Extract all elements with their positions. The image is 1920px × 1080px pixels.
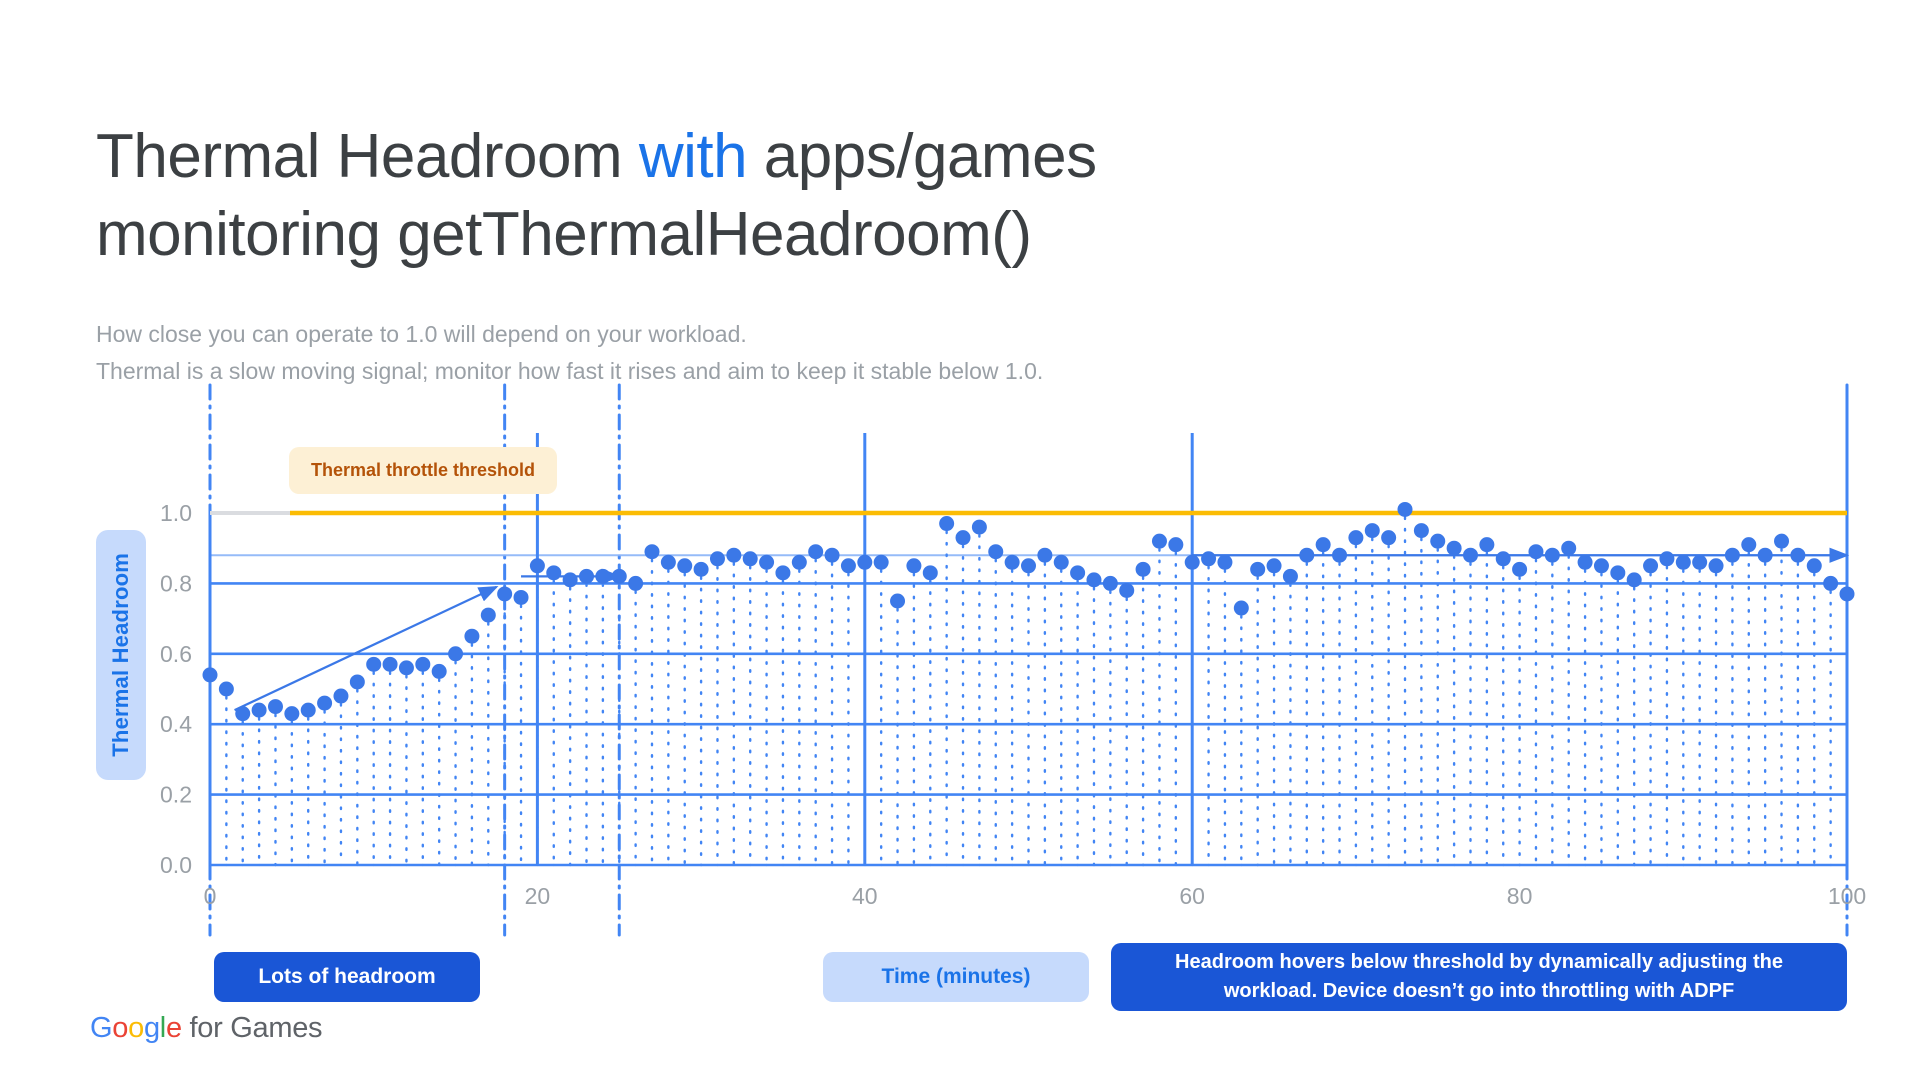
trend-arrows bbox=[235, 555, 1847, 710]
logo-letter-e1: e bbox=[166, 1012, 182, 1044]
data-point bbox=[612, 569, 627, 584]
subtitle-line-1: How close you can operate to 1.0 will de… bbox=[96, 316, 1043, 353]
data-point bbox=[1561, 541, 1576, 556]
data-point bbox=[366, 657, 381, 672]
data-point bbox=[1037, 548, 1052, 563]
y-tick-label: 0.0 bbox=[160, 852, 192, 878]
data-point bbox=[988, 544, 1003, 559]
data-point bbox=[1136, 562, 1151, 577]
data-point bbox=[432, 664, 447, 679]
data-point bbox=[1398, 502, 1413, 517]
title-accent-with: with bbox=[639, 122, 747, 191]
y-tick-label: 0.6 bbox=[160, 641, 192, 667]
data-point bbox=[906, 558, 921, 573]
data-point bbox=[857, 555, 872, 570]
data-point bbox=[1692, 555, 1707, 570]
data-point bbox=[841, 558, 856, 573]
data-point bbox=[890, 594, 905, 609]
data-point bbox=[1676, 555, 1691, 570]
data-point bbox=[333, 689, 348, 704]
data-point bbox=[1774, 534, 1789, 549]
google-for-games-logo: Google for Games bbox=[90, 1012, 322, 1045]
data-point bbox=[235, 706, 250, 721]
data-point bbox=[1119, 583, 1134, 598]
data-point bbox=[956, 530, 971, 545]
data-point bbox=[481, 608, 496, 623]
data-point bbox=[1659, 551, 1674, 566]
subtitle: How close you can operate to 1.0 will de… bbox=[96, 316, 1043, 390]
data-point bbox=[1627, 572, 1642, 587]
x-tick-label: 40 bbox=[852, 883, 878, 909]
y-tick-label: 0.4 bbox=[160, 711, 192, 737]
trend-arrow bbox=[235, 587, 497, 710]
x-tick-label: 0 bbox=[204, 883, 217, 909]
data-point bbox=[1365, 523, 1380, 538]
data-points bbox=[203, 502, 1855, 721]
data-point bbox=[1430, 534, 1445, 549]
data-point bbox=[1234, 601, 1249, 616]
data-point bbox=[1496, 551, 1511, 566]
data-point bbox=[743, 551, 758, 566]
data-point bbox=[1741, 537, 1756, 552]
horizontal-reference-lines bbox=[210, 555, 1847, 865]
thermal-throttle-threshold-label: Thermal throttle threshold bbox=[289, 447, 557, 494]
data-point bbox=[219, 682, 234, 697]
data-point bbox=[546, 565, 561, 580]
data-point bbox=[1610, 565, 1625, 580]
data-point bbox=[1021, 558, 1036, 573]
data-point bbox=[1807, 558, 1822, 573]
data-point bbox=[1152, 534, 1167, 549]
data-point bbox=[759, 555, 774, 570]
x-axis-tick-labels: 020406080100 bbox=[204, 883, 1867, 909]
y-tick-label: 0.2 bbox=[160, 782, 192, 808]
data-point bbox=[1578, 555, 1593, 570]
data-point bbox=[1823, 576, 1838, 591]
page-title: Thermal Headroom with apps/games monitor… bbox=[96, 118, 1396, 274]
data-point bbox=[710, 551, 725, 566]
x-tick-label: 100 bbox=[1828, 883, 1866, 909]
data-point bbox=[644, 544, 659, 559]
data-point bbox=[301, 703, 316, 718]
data-point bbox=[792, 555, 807, 570]
data-point bbox=[252, 703, 267, 718]
data-point bbox=[1594, 558, 1609, 573]
data-point bbox=[1790, 548, 1805, 563]
y-tick-label: 1.0 bbox=[160, 500, 192, 526]
data-point bbox=[530, 558, 545, 573]
y-axis-title-badge: Thermal Headroom bbox=[96, 530, 146, 780]
data-point bbox=[448, 646, 463, 661]
data-point bbox=[808, 544, 823, 559]
data-point bbox=[1709, 558, 1724, 573]
data-point bbox=[1316, 537, 1331, 552]
data-point bbox=[1463, 548, 1478, 563]
data-point bbox=[1528, 544, 1543, 559]
title-line2: monitoring getThermalHeadroom() bbox=[96, 200, 1032, 269]
x-tick-label: 20 bbox=[525, 883, 551, 909]
data-point bbox=[383, 657, 398, 672]
data-point bbox=[1348, 530, 1363, 545]
data-point bbox=[972, 520, 987, 535]
data-point bbox=[1643, 558, 1658, 573]
data-point bbox=[1840, 586, 1855, 601]
data-point bbox=[350, 674, 365, 689]
data-point bbox=[1725, 548, 1740, 563]
data-point bbox=[563, 572, 578, 587]
data-point bbox=[825, 548, 840, 563]
callout-headroom-hovers-below-threshold: Headroom hovers below threshold by dynam… bbox=[1111, 943, 1847, 1011]
x-axis-title-badge: Time (minutes) bbox=[823, 952, 1089, 1002]
data-point bbox=[939, 516, 954, 531]
y-tick-label: 0.8 bbox=[160, 570, 192, 596]
data-point bbox=[1267, 558, 1282, 573]
data-point bbox=[1758, 548, 1773, 563]
data-point bbox=[628, 576, 643, 591]
data-point bbox=[595, 569, 610, 584]
data-point bbox=[1217, 555, 1232, 570]
data-point bbox=[1250, 562, 1265, 577]
data-point bbox=[1005, 555, 1020, 570]
title-part1: Thermal Headroom bbox=[96, 122, 639, 191]
data-point bbox=[268, 699, 283, 714]
logo-letter-o2: o bbox=[128, 1012, 144, 1044]
data-point bbox=[1447, 541, 1462, 556]
data-point bbox=[775, 565, 790, 580]
data-point bbox=[579, 569, 594, 584]
data-point bbox=[1103, 576, 1118, 591]
data-point bbox=[1185, 555, 1200, 570]
data-point bbox=[203, 667, 218, 682]
data-point bbox=[1054, 555, 1069, 570]
data-point bbox=[1168, 537, 1183, 552]
data-point bbox=[1086, 572, 1101, 587]
data-point bbox=[726, 548, 741, 563]
data-point bbox=[1283, 569, 1298, 584]
x-tick-label: 80 bbox=[1507, 883, 1533, 909]
data-point bbox=[1479, 537, 1494, 552]
data-point bbox=[923, 565, 938, 580]
logo-letter-o1: o bbox=[112, 1012, 128, 1044]
data-point bbox=[1070, 565, 1085, 580]
data-point bbox=[1332, 548, 1347, 563]
logo-letter-g1: G bbox=[90, 1012, 112, 1044]
data-point bbox=[661, 555, 676, 570]
data-point bbox=[284, 706, 299, 721]
callout-lots-of-headroom: Lots of headroom bbox=[214, 952, 480, 1002]
x-tick-label: 60 bbox=[1179, 883, 1205, 909]
subtitle-line-2: Thermal is a slow moving signal; monitor… bbox=[96, 353, 1043, 390]
title-part2: apps/games bbox=[747, 122, 1097, 191]
data-point bbox=[874, 555, 889, 570]
data-point bbox=[677, 558, 692, 573]
data-point bbox=[1512, 562, 1527, 577]
data-point bbox=[1381, 530, 1396, 545]
logo-suffix: for Games bbox=[182, 1012, 322, 1044]
data-point bbox=[317, 696, 332, 711]
y-axis-tick-labels: 0.00.20.40.60.81.0 bbox=[160, 500, 192, 878]
data-point bbox=[694, 562, 709, 577]
data-point bbox=[1414, 523, 1429, 538]
data-point bbox=[464, 629, 479, 644]
data-point bbox=[1299, 548, 1314, 563]
y-axis-title: Thermal Headroom bbox=[108, 553, 134, 757]
data-point bbox=[1545, 548, 1560, 563]
logo-letter-g2: g bbox=[144, 1012, 160, 1044]
data-point bbox=[497, 586, 512, 601]
data-point bbox=[415, 657, 430, 672]
data-point bbox=[399, 660, 414, 675]
data-point bbox=[514, 590, 529, 605]
data-point-droplines bbox=[210, 517, 1847, 865]
data-point bbox=[1201, 551, 1216, 566]
slide-root: Thermal Headroom with apps/games monitor… bbox=[0, 0, 1920, 1080]
